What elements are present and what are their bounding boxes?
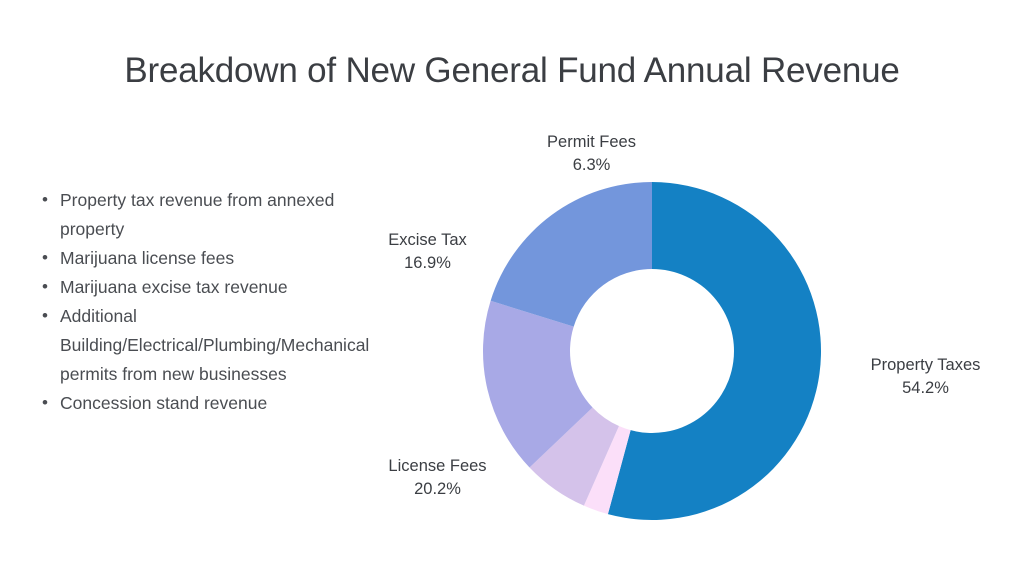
revenue-sources-panel: Property tax revenue from annexed proper… (38, 186, 358, 418)
slice-label-excise-tax-percent: 16.9% (355, 252, 500, 275)
page-title: Breakdown of New General Fund Annual Rev… (0, 51, 1024, 91)
slice-label-property-taxes-percent: 54.2% (838, 377, 1013, 400)
donut-chart-svg (482, 181, 822, 521)
donut-slice-group (483, 182, 821, 520)
list-item: Additional Building/Electrical/Plumbing/… (38, 302, 358, 389)
list-item: Marijuana excise tax revenue (38, 273, 358, 302)
slice-label-property-taxes-name: Property Taxes (871, 356, 981, 374)
slice-label-permit-fees-name: Permit Fees (547, 133, 636, 151)
list-item: Property tax revenue from annexed proper… (38, 186, 358, 244)
donut-chart (482, 181, 822, 521)
slice-label-permit-fees: Permit Fees 6.3% (519, 131, 664, 177)
list-item: Concession stand revenue (38, 389, 358, 418)
revenue-sources-list: Property tax revenue from annexed proper… (38, 186, 358, 418)
slice-label-property-taxes: Property Taxes 54.2% (838, 354, 1013, 400)
donut-slice (491, 182, 652, 327)
slice-label-license-fees-name: License Fees (388, 457, 486, 475)
slice-label-license-fees: License Fees 20.2% (355, 455, 520, 501)
slice-label-excise-tax-name: Excise Tax (388, 231, 467, 249)
slice-label-excise-tax: Excise Tax 16.9% (355, 229, 500, 275)
slice-label-license-fees-percent: 20.2% (355, 478, 520, 501)
list-item: Marijuana license fees (38, 244, 358, 273)
slice-label-permit-fees-percent: 6.3% (519, 154, 664, 177)
